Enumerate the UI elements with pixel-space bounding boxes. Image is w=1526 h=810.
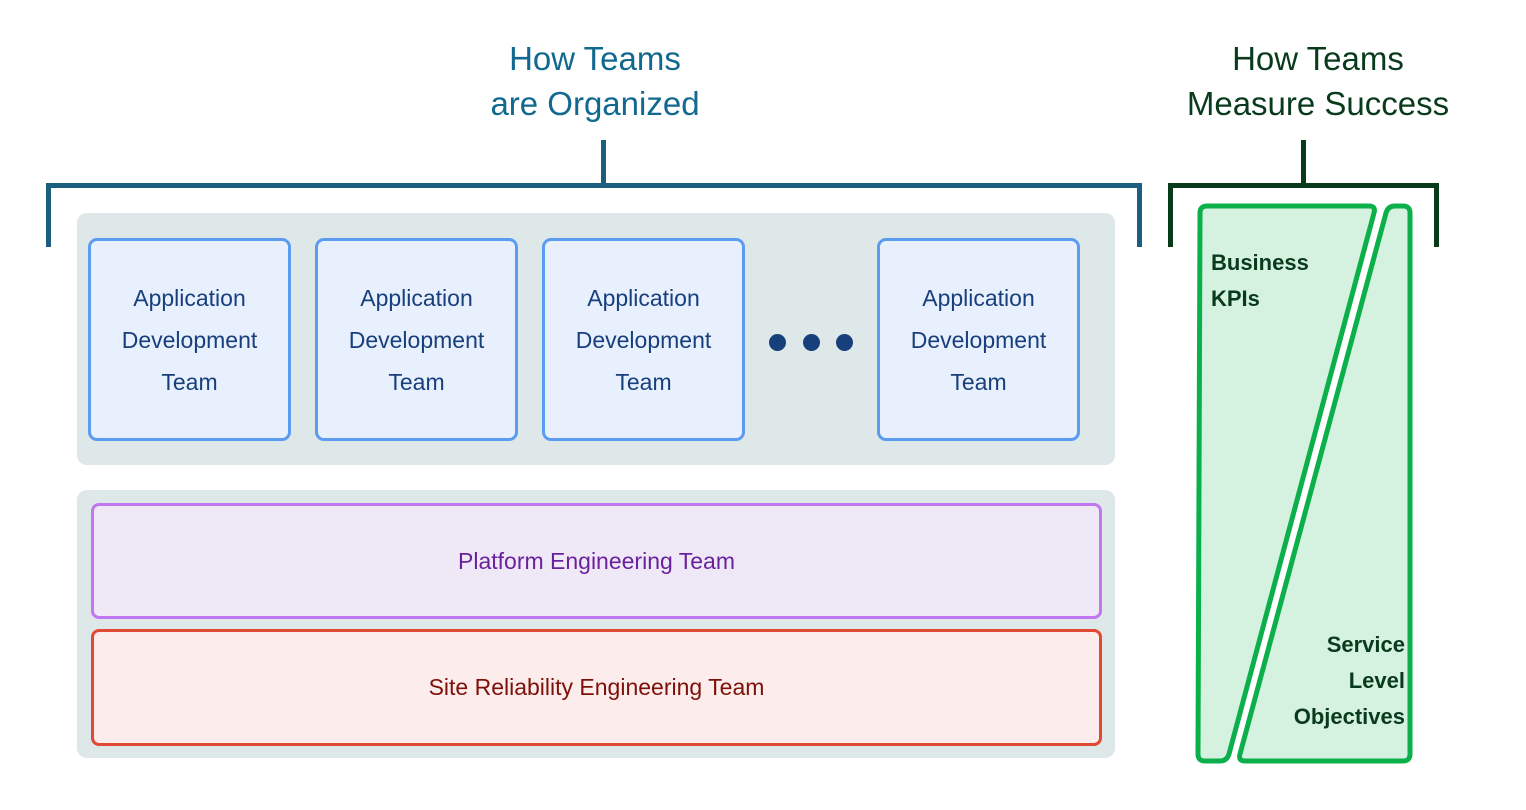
diagram-canvas: How Teams are Organized How Teams Measur… bbox=[0, 0, 1526, 810]
app-development-team-label: Application Development Team bbox=[911, 277, 1047, 403]
measurement-stem-line bbox=[1301, 140, 1306, 185]
app-development-team-label: Application Development Team bbox=[349, 277, 485, 403]
app-development-team-box[interactable]: Application Development Team bbox=[315, 238, 518, 441]
measurement-title: How Teams Measure Success bbox=[1128, 36, 1508, 126]
ellipsis-dot bbox=[836, 334, 853, 351]
organization-title: How Teams are Organized bbox=[345, 36, 845, 126]
ellipsis-icon bbox=[769, 332, 853, 352]
app-development-team-box[interactable]: Application Development Team bbox=[877, 238, 1080, 441]
platform-engineering-team-label: Platform Engineering Team bbox=[458, 548, 735, 575]
ellipsis-dot bbox=[769, 334, 786, 351]
app-development-team-label: Application Development Team bbox=[122, 277, 258, 403]
site-reliability-engineering-team-label: Site Reliability Engineering Team bbox=[429, 674, 765, 701]
app-development-team-label: Application Development Team bbox=[576, 277, 712, 403]
business-kpis-label: Business KPIs bbox=[1211, 245, 1309, 317]
platform-engineering-team-box[interactable]: Platform Engineering Team bbox=[91, 503, 1102, 619]
site-reliability-engineering-team-box[interactable]: Site Reliability Engineering Team bbox=[91, 629, 1102, 746]
ellipsis-dot bbox=[803, 334, 820, 351]
app-development-team-box[interactable]: Application Development Team bbox=[88, 238, 291, 441]
app-development-team-box[interactable]: Application Development Team bbox=[542, 238, 745, 441]
organization-stem-line bbox=[601, 140, 606, 185]
service-level-objectives-label: Service Level Objectives bbox=[1245, 627, 1405, 735]
